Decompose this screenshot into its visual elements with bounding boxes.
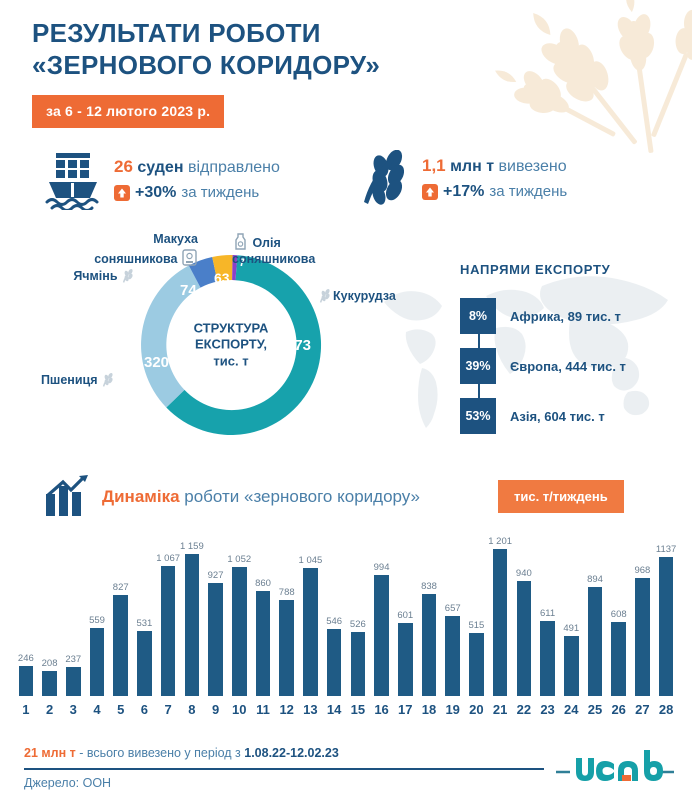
export-row-asia: 53% Азія, 604 тис. т	[460, 398, 605, 434]
bar	[422, 594, 437, 696]
x-axis-tick: 18	[417, 702, 441, 717]
export-label-africa: Африка, 89 тис. т	[510, 309, 621, 324]
bar	[279, 600, 294, 696]
bar-column: 531	[137, 528, 152, 696]
bar	[588, 587, 603, 696]
stat-ships-period: за тиждень	[181, 183, 259, 203]
stat-volume-line2: +17% за тиждень	[422, 181, 567, 203]
barley-ear-icon	[121, 268, 136, 283]
bar	[19, 666, 34, 696]
bar-column: 927	[208, 528, 223, 696]
date-range-badge: за 6 - 12 лютого 2023 р.	[32, 95, 224, 128]
donut-label-yachmin: Ячмінь	[66, 268, 136, 285]
bar-column: 237	[66, 528, 81, 696]
x-axis-tick: 4	[85, 702, 109, 717]
x-axis-tick: 16	[370, 702, 394, 717]
bar-column: 1 201	[493, 528, 508, 696]
export-percent-europe: 39%	[460, 348, 496, 384]
ucab-logo	[556, 748, 674, 790]
stat-volume-value: 1,1	[422, 156, 446, 175]
corn-icon	[318, 288, 333, 303]
bar-value-label: 559	[89, 615, 105, 626]
bar	[66, 667, 81, 696]
bar-column: 515	[469, 528, 484, 696]
export-label-europe: Європа, 444 тис. т	[510, 359, 626, 374]
donut-label-makuha-l1: Макуха	[88, 232, 198, 248]
donut-label-oliya: Олія соняшникова	[232, 232, 342, 267]
stat-volume-line1: 1,1 млн т вивезено	[422, 155, 567, 178]
bar-value-label: 968	[634, 565, 650, 576]
bar	[90, 628, 105, 696]
x-axis-tick: 5	[109, 702, 133, 717]
x-axis-tick: 7	[156, 702, 180, 717]
bar-column: 940	[517, 528, 532, 696]
stat-volume-change: +17%	[443, 181, 484, 203]
footer-total-mid: - всього вивезено у період з	[76, 746, 245, 760]
ship-icon	[44, 150, 102, 210]
x-axis-tick: 20	[465, 702, 489, 717]
bar-column: 827	[113, 528, 128, 696]
bar-column: 246	[19, 528, 34, 696]
bar-value-label: 491	[563, 623, 579, 634]
dynamics-title-rest: роботи «зернового коридору»	[180, 487, 420, 506]
x-axis-tick: 24	[559, 702, 583, 717]
bar	[445, 616, 460, 696]
donut-center-label: СТРУКТУРА ЕКСПОРТУ, тис. т	[176, 321, 286, 370]
x-axis-tick: 28	[654, 702, 678, 717]
bar-value-label: 940	[516, 568, 532, 579]
unit-badge: тис. т/тиждень	[498, 480, 624, 513]
bar-column: 1 045	[303, 528, 318, 696]
footer-total-period: 1.08.22-12.02.23	[244, 746, 339, 760]
export-percent-africa: 8%	[460, 298, 496, 334]
bar	[540, 621, 555, 696]
footer-divider	[24, 768, 544, 770]
x-axis-tick: 27	[631, 702, 655, 717]
bar-column: 894	[588, 528, 603, 696]
stat-volume-text: 1,1 млн т вивезено +17% за тиждень	[422, 155, 567, 203]
sunflower-meal-icon	[181, 248, 198, 267]
bar-value-label: 515	[468, 620, 484, 631]
bar	[398, 623, 413, 696]
bar-value-label: 1 159	[180, 541, 204, 552]
donut-label-yachmin-text: Ячмінь	[73, 269, 117, 283]
x-axis-tick: 2	[38, 702, 62, 717]
x-axis-tick: 10	[227, 702, 251, 717]
bar	[137, 631, 152, 696]
bar-column: 491	[564, 528, 579, 696]
dynamics-title: Динаміка роботи «зернового коридору»	[102, 487, 420, 507]
bar-column: 1137	[659, 528, 674, 696]
donut-center-line2: ЕКСПОРТУ,	[176, 337, 286, 353]
stat-ships-desc: відправлено	[188, 159, 280, 176]
export-row-europe: 39% Європа, 444 тис. т	[460, 348, 626, 384]
donut-center-line3: тис. т	[176, 353, 286, 369]
stat-volume-unit: млн т	[450, 158, 494, 175]
bar-value-label: 994	[374, 562, 390, 573]
bar	[635, 578, 650, 696]
bar	[113, 595, 128, 696]
bar-chart-x-axis: 1234567891011121314151617181920212223242…	[14, 702, 678, 724]
arrow-up-icon	[114, 185, 130, 201]
x-axis-tick: 25	[583, 702, 607, 717]
weekly-dynamics-bar-chart: 2462082375598275311 0671 1599271 0528607…	[14, 528, 678, 696]
donut-value-pshenytsia: 320	[144, 354, 169, 371]
page-title: РЕЗУЛЬТАТИ РОБОТИ «ЗЕРНОВОГО КОРИДОРУ»	[32, 18, 552, 81]
x-axis-tick: 6	[133, 702, 157, 717]
donut-label-makuha-l2-text: соняшникова	[94, 252, 177, 266]
x-axis-tick: 22	[512, 702, 536, 717]
x-axis-tick: 15	[346, 702, 370, 717]
export-row-africa: 8% Африка, 89 тис. т	[460, 298, 621, 334]
bar-column: 208	[42, 528, 57, 696]
donut-label-oliya-l1: Олія	[232, 232, 342, 252]
bar	[469, 633, 484, 696]
x-axis-tick: 9	[204, 702, 228, 717]
bar	[564, 636, 579, 696]
x-axis-tick: 12	[275, 702, 299, 717]
bar-value-label: 927	[208, 570, 224, 581]
bar-column: 657	[445, 528, 460, 696]
bar-value-label: 838	[421, 581, 437, 592]
stat-ships-line1: 26 суден відправлено	[114, 156, 280, 179]
donut-label-makuha: Макуха соняшникова	[88, 232, 198, 267]
donut-label-oliya-l1-text: Олія	[252, 236, 280, 250]
export-label-asia: Азія, 604 тис. т	[510, 409, 605, 424]
bar	[161, 566, 176, 696]
bar-column: 1 159	[185, 528, 200, 696]
bar	[256, 591, 271, 696]
bar	[232, 567, 247, 696]
arrow-up-icon	[422, 184, 438, 200]
stat-ships-unit: суден	[137, 159, 183, 176]
footer-total-note: 21 млн т - всього вивезено у період з 1.…	[24, 746, 339, 760]
export-directions-title: НАПРЯМИ ЕКСПОРТУ	[460, 262, 610, 277]
x-axis-tick: 8	[180, 702, 204, 717]
bar-value-label: 608	[611, 609, 627, 620]
donut-value-yachmin: 74	[180, 282, 197, 299]
bar-column: 788	[279, 528, 294, 696]
dynamics-title-bold: Динаміка	[102, 487, 180, 506]
bar-value-label: 1 045	[299, 555, 323, 566]
stat-volume-period: за тиждень	[489, 182, 567, 202]
bar-column: 860	[256, 528, 271, 696]
export-percent-asia: 53%	[460, 398, 496, 434]
bar-column: 526	[351, 528, 366, 696]
bar-value-label: 1137	[656, 544, 676, 555]
growth-chart-icon	[44, 474, 90, 518]
x-axis-tick: 21	[488, 702, 512, 717]
bar	[303, 568, 318, 696]
bar-value-label: 526	[350, 619, 366, 630]
bar-value-label: 1 067	[156, 553, 180, 564]
x-axis-tick: 1	[14, 702, 38, 717]
donut-label-pshenytsia-text: Пшениця	[41, 373, 98, 387]
stat-ships-line2: +30% за тиждень	[114, 182, 280, 204]
stat-volume: 1,1 млн т вивезено +17% за тиждень	[358, 150, 567, 208]
bar-column: 1 052	[232, 528, 247, 696]
donut-value-makuha: 63	[214, 270, 230, 286]
bar-column: 546	[327, 528, 342, 696]
bar-column: 838	[422, 528, 437, 696]
stat-ships-text: 26 суден відправлено +30% за тиждень	[114, 156, 280, 204]
donut-label-pshenytsia: Пшениця	[36, 372, 116, 389]
bar-column: 608	[611, 528, 626, 696]
bar-column: 611	[540, 528, 555, 696]
bar-value-label: 246	[18, 653, 34, 664]
bar-value-label: 546	[326, 616, 342, 627]
x-axis-tick: 14	[322, 702, 346, 717]
bar-value-label: 601	[397, 610, 413, 621]
bar	[208, 583, 223, 696]
bar	[185, 554, 200, 696]
bar	[493, 549, 508, 696]
bar-value-label: 208	[42, 658, 58, 669]
x-axis-tick: 26	[607, 702, 631, 717]
bar-column: 968	[635, 528, 650, 696]
bar-value-label: 657	[445, 603, 461, 614]
bar-value-label: 788	[279, 587, 295, 598]
donut-center-line1: СТРУКТУРА	[176, 321, 286, 337]
bar-value-label: 531	[136, 618, 152, 629]
bar	[611, 622, 626, 696]
stat-volume-desc: вивезено	[499, 158, 567, 175]
export-structure-donut: СТРУКТУРА ЕКСПОРТУ, тис. т 673 320 74 63…	[118, 252, 344, 438]
bar	[42, 671, 57, 696]
sunflower-oil-bottle-icon	[232, 232, 249, 251]
x-axis-tick: 13	[299, 702, 323, 717]
bar-value-label: 860	[255, 578, 271, 589]
footer-total-value: 21 млн т	[24, 746, 76, 760]
bar-value-label: 1 052	[227, 554, 251, 565]
donut-label-makuha-l2: соняшникова	[88, 248, 198, 268]
wheat-ear-icon	[101, 372, 116, 387]
page-title-line1: РЕЗУЛЬТАТИ РОБОТИ	[32, 18, 321, 48]
bar-value-label: 1 201	[488, 536, 512, 547]
bar-column: 1 067	[161, 528, 176, 696]
bar	[517, 581, 532, 696]
x-axis-tick: 3	[61, 702, 85, 717]
stat-ships-change: +30%	[135, 182, 176, 204]
x-axis-tick: 17	[393, 702, 417, 717]
bar	[659, 557, 674, 696]
infographic-page: РЕЗУЛЬТАТИ РОБОТИ «ЗЕРНОВОГО КОРИДОРУ» з…	[0, 0, 692, 800]
bar-column: 559	[90, 528, 105, 696]
bar-value-label: 611	[540, 608, 555, 619]
bar-column: 994	[374, 528, 389, 696]
bar	[327, 629, 342, 696]
x-axis-tick: 19	[441, 702, 465, 717]
bar-column: 601	[398, 528, 413, 696]
bar-value-label: 237	[65, 654, 81, 665]
bar	[374, 575, 389, 696]
page-title-line2: «ЗЕРНОВОГО КОРИДОРУ»	[32, 50, 552, 82]
wheat-ear-icon	[358, 150, 410, 208]
bar-value-label: 827	[113, 582, 129, 593]
x-axis-tick: 11	[251, 702, 275, 717]
bar-value-label: 894	[587, 574, 603, 585]
donut-label-oliya-l2: соняшникова	[232, 252, 342, 268]
stat-ships: 26 суден відправлено +30% за тиждень	[44, 150, 280, 210]
stat-ships-value: 26	[114, 157, 133, 176]
x-axis-tick: 23	[536, 702, 560, 717]
footer-source: Джерело: ООН	[24, 776, 111, 790]
bar	[351, 632, 366, 696]
donut-value-kukurudza: 673	[286, 337, 311, 354]
